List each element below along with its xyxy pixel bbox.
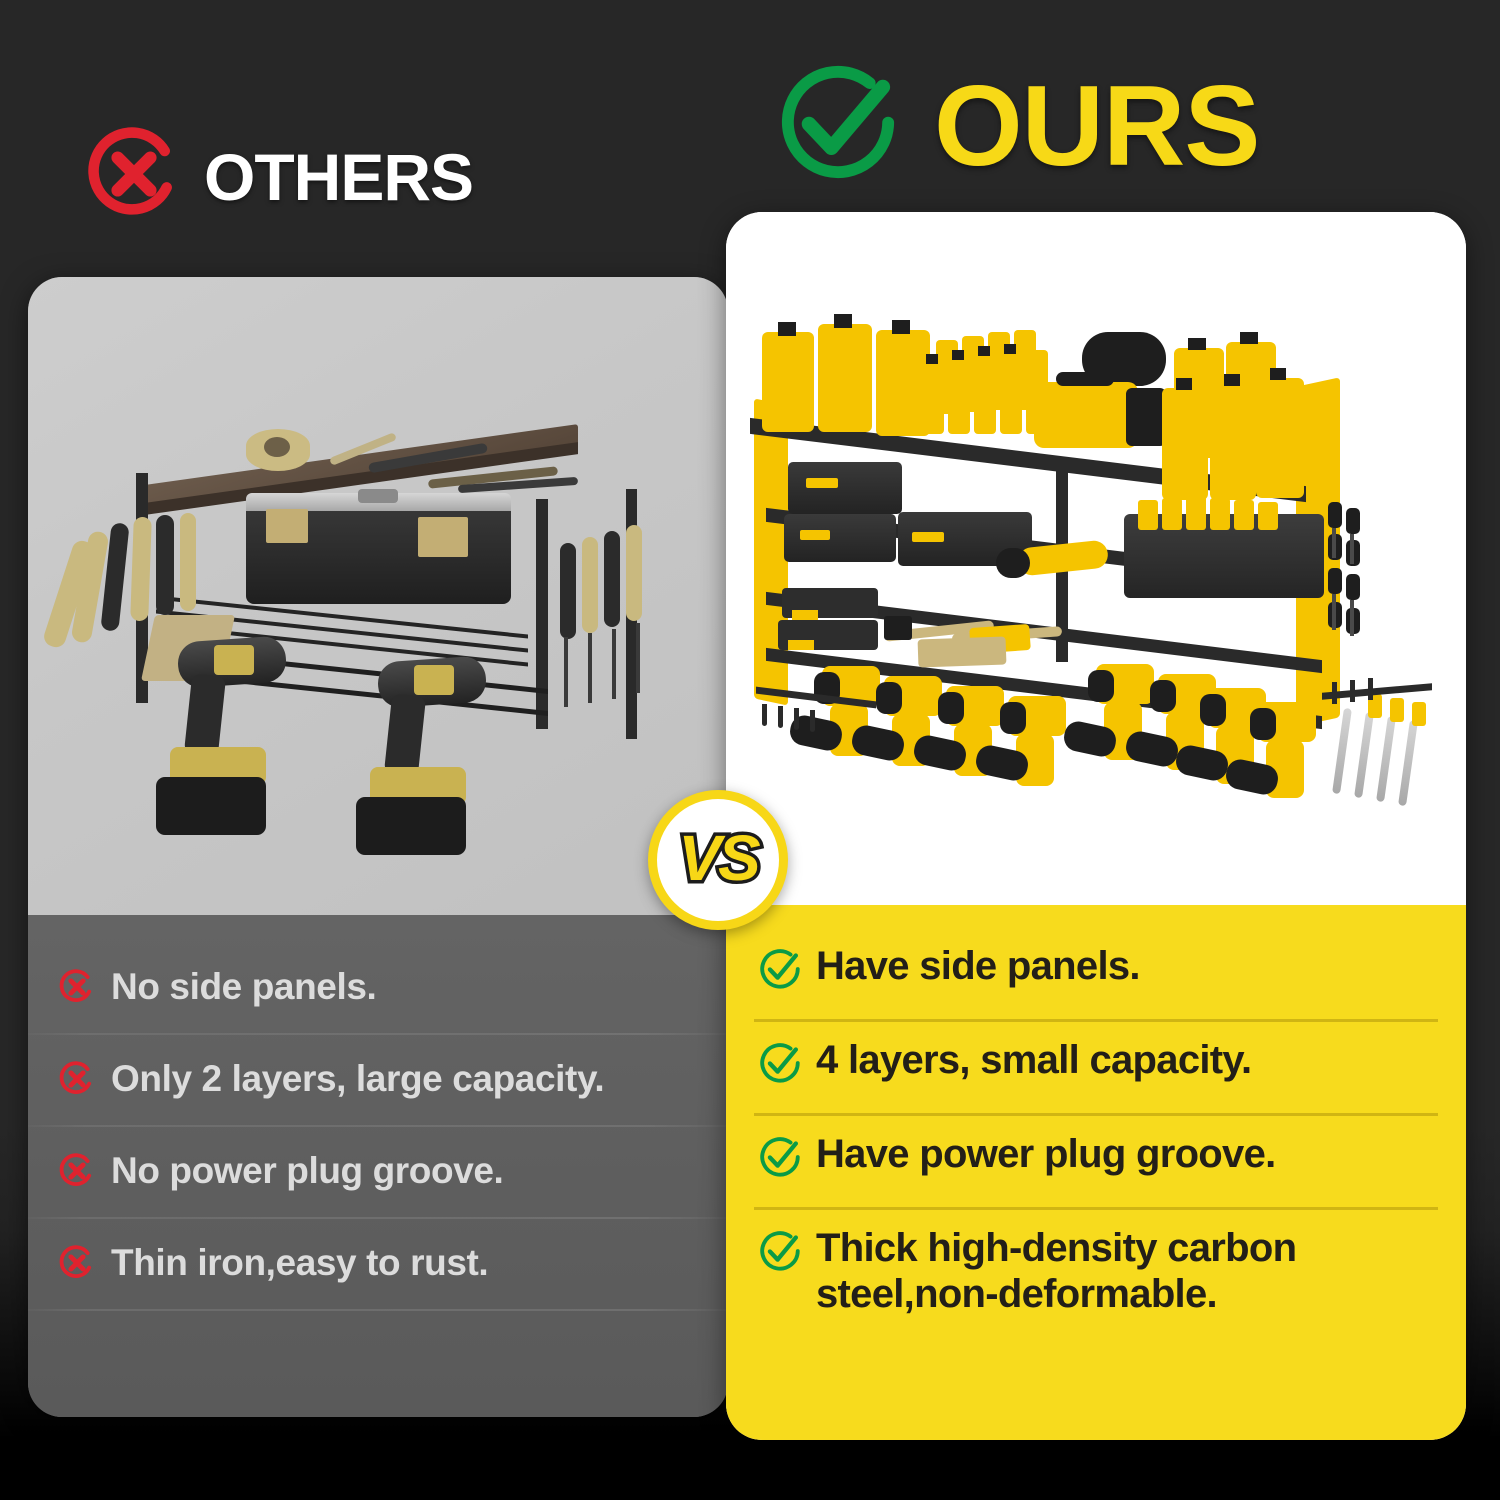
ours-header: OURS (772, 58, 1259, 195)
circle-check-icon (756, 1207, 804, 1280)
vs-badge: VS (648, 790, 788, 930)
ours-list-item: 4 layers, small capacity. (726, 1019, 1466, 1113)
others-list-item: Only 2 layers, large capacity. (28, 1033, 728, 1125)
ours-list-item: Thick high-density carbon steel,non-defo… (726, 1207, 1466, 1375)
circle-x-icon (86, 126, 182, 227)
others-list-item-label: Only 2 layers, large capacity. (111, 1058, 604, 1100)
others-title: OTHERS (204, 144, 473, 210)
others-header: OTHERS (86, 126, 473, 227)
ours-card: Have side panels. 4 layers, small capaci… (726, 212, 1466, 1440)
ours-list-item-label: Have side panels. (816, 925, 1140, 989)
circle-check-icon (756, 1019, 804, 1092)
others-list-item: No side panels. (28, 941, 728, 1033)
ours-list-item: Have power plug groove. (726, 1113, 1466, 1207)
others-feature-list: No side panels. Only 2 layers, large cap… (28, 915, 728, 1417)
ours-list-item-label: Have power plug groove. (816, 1113, 1276, 1177)
others-list-spacer (28, 1309, 728, 1401)
ours-list-item: Have side panels. (726, 925, 1466, 1019)
others-list-item: Thin iron,easy to rust. (28, 1217, 728, 1309)
others-product-photo (28, 277, 728, 915)
ours-list-item-label: 4 layers, small capacity. (816, 1019, 1251, 1083)
circle-x-icon (58, 968, 96, 1006)
others-card: No side panels. Only 2 layers, large cap… (28, 277, 728, 1417)
circle-x-icon (58, 1060, 96, 1098)
circle-x-icon (58, 1244, 96, 1282)
ours-list-item-label: Thick high-density carbon steel,non-defo… (816, 1207, 1448, 1318)
circle-x-icon (58, 1152, 96, 1190)
circle-check-icon (756, 925, 804, 998)
ours-title: OURS (934, 70, 1259, 184)
circle-check-icon (772, 58, 904, 195)
others-list-item-label: Thin iron,easy to rust. (111, 1242, 488, 1284)
vs-label: VS (678, 826, 757, 890)
circle-check-icon (756, 1113, 804, 1186)
others-list-item-label: No side panels. (111, 966, 376, 1008)
ours-feature-list: Have side panels. 4 layers, small capaci… (726, 905, 1466, 1440)
ours-product-photo (726, 212, 1466, 905)
others-list-item-label: No power plug groove. (111, 1150, 503, 1192)
others-list-item: No power plug groove. (28, 1125, 728, 1217)
